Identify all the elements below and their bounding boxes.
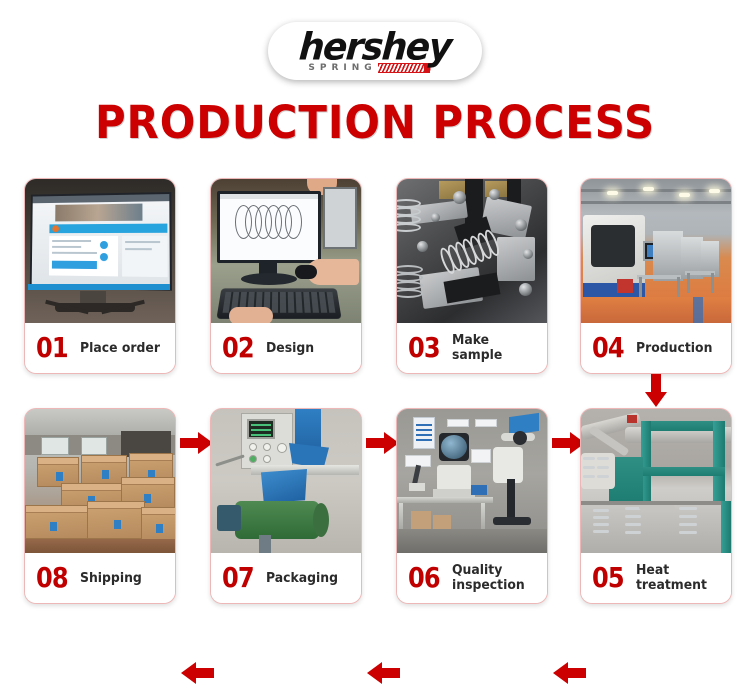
step-number: 03 <box>408 334 440 362</box>
logo-wordmark: hershey <box>298 30 452 65</box>
step-caption-04: 04 Production <box>581 323 731 373</box>
step-caption-06: 06 Quality inspection <box>397 553 547 603</box>
step-photo-make-sample <box>397 179 547 323</box>
step-card-07[interactable]: 07 Packaging <box>210 408 362 604</box>
step-number: 05 <box>592 564 624 592</box>
step-card-04[interactable]: 04 Production <box>580 178 732 374</box>
step-caption-02: 02 Design <box>211 323 361 373</box>
step-caption-01: 01 Place order <box>25 323 175 373</box>
step-card-05[interactable]: 05 Heat treatment <box>580 408 732 604</box>
step-card-08[interactable]: 08 Shipping <box>24 408 176 604</box>
step-photo-packaging <box>211 409 361 553</box>
step-photo-place-order <box>25 179 175 323</box>
step-number: 07 <box>222 564 254 592</box>
page-title: PRODUCTION PROCESS <box>26 96 724 149</box>
step-card-01[interactable]: 01 Place order <box>24 178 176 374</box>
arrow-left-icon-6 <box>366 662 400 684</box>
brand-logo: hershey SPRING <box>268 22 482 80</box>
arrow-left-icon-7 <box>180 662 214 684</box>
step-label: Shipping <box>80 571 142 586</box>
step-label: Place order <box>80 341 160 356</box>
process-row-bottom: 08 Shipping 07 Pac <box>0 408 750 604</box>
step-card-02[interactable]: 02 Design <box>210 178 362 374</box>
step-label: Quality inspection <box>452 563 525 593</box>
step-label: Design <box>266 341 314 356</box>
step-label: Make sample <box>452 333 539 363</box>
process-row-top: 01 Place order 02 D <box>0 178 750 374</box>
step-label: Packaging <box>266 571 338 586</box>
arrow-down-icon-4 <box>645 374 667 408</box>
step-number: 04 <box>592 334 624 362</box>
step-photo-design <box>211 179 361 323</box>
step-caption-05: 05 Heat treatment <box>581 553 731 603</box>
step-card-06[interactable]: 06 Quality inspection <box>396 408 548 604</box>
step-photo-shipping <box>25 409 175 553</box>
step-caption-08: 08 Shipping <box>25 553 175 603</box>
step-number: 02 <box>222 334 254 362</box>
step-photo-production <box>581 179 731 323</box>
step-number: 06 <box>408 564 440 592</box>
step-number: 08 <box>36 564 68 592</box>
step-label: Production <box>636 341 712 356</box>
step-label: Heat treatment <box>636 563 723 593</box>
step-number: 01 <box>36 334 68 362</box>
step-caption-03: 03 Make sample <box>397 323 547 373</box>
step-card-03[interactable]: 03 Make sample <box>396 178 548 374</box>
step-caption-07: 07 Packaging <box>211 553 361 603</box>
step-photo-quality-inspection <box>397 409 547 553</box>
step-photo-heat-treatment <box>581 409 731 553</box>
arrow-left-icon-5 <box>552 662 586 684</box>
